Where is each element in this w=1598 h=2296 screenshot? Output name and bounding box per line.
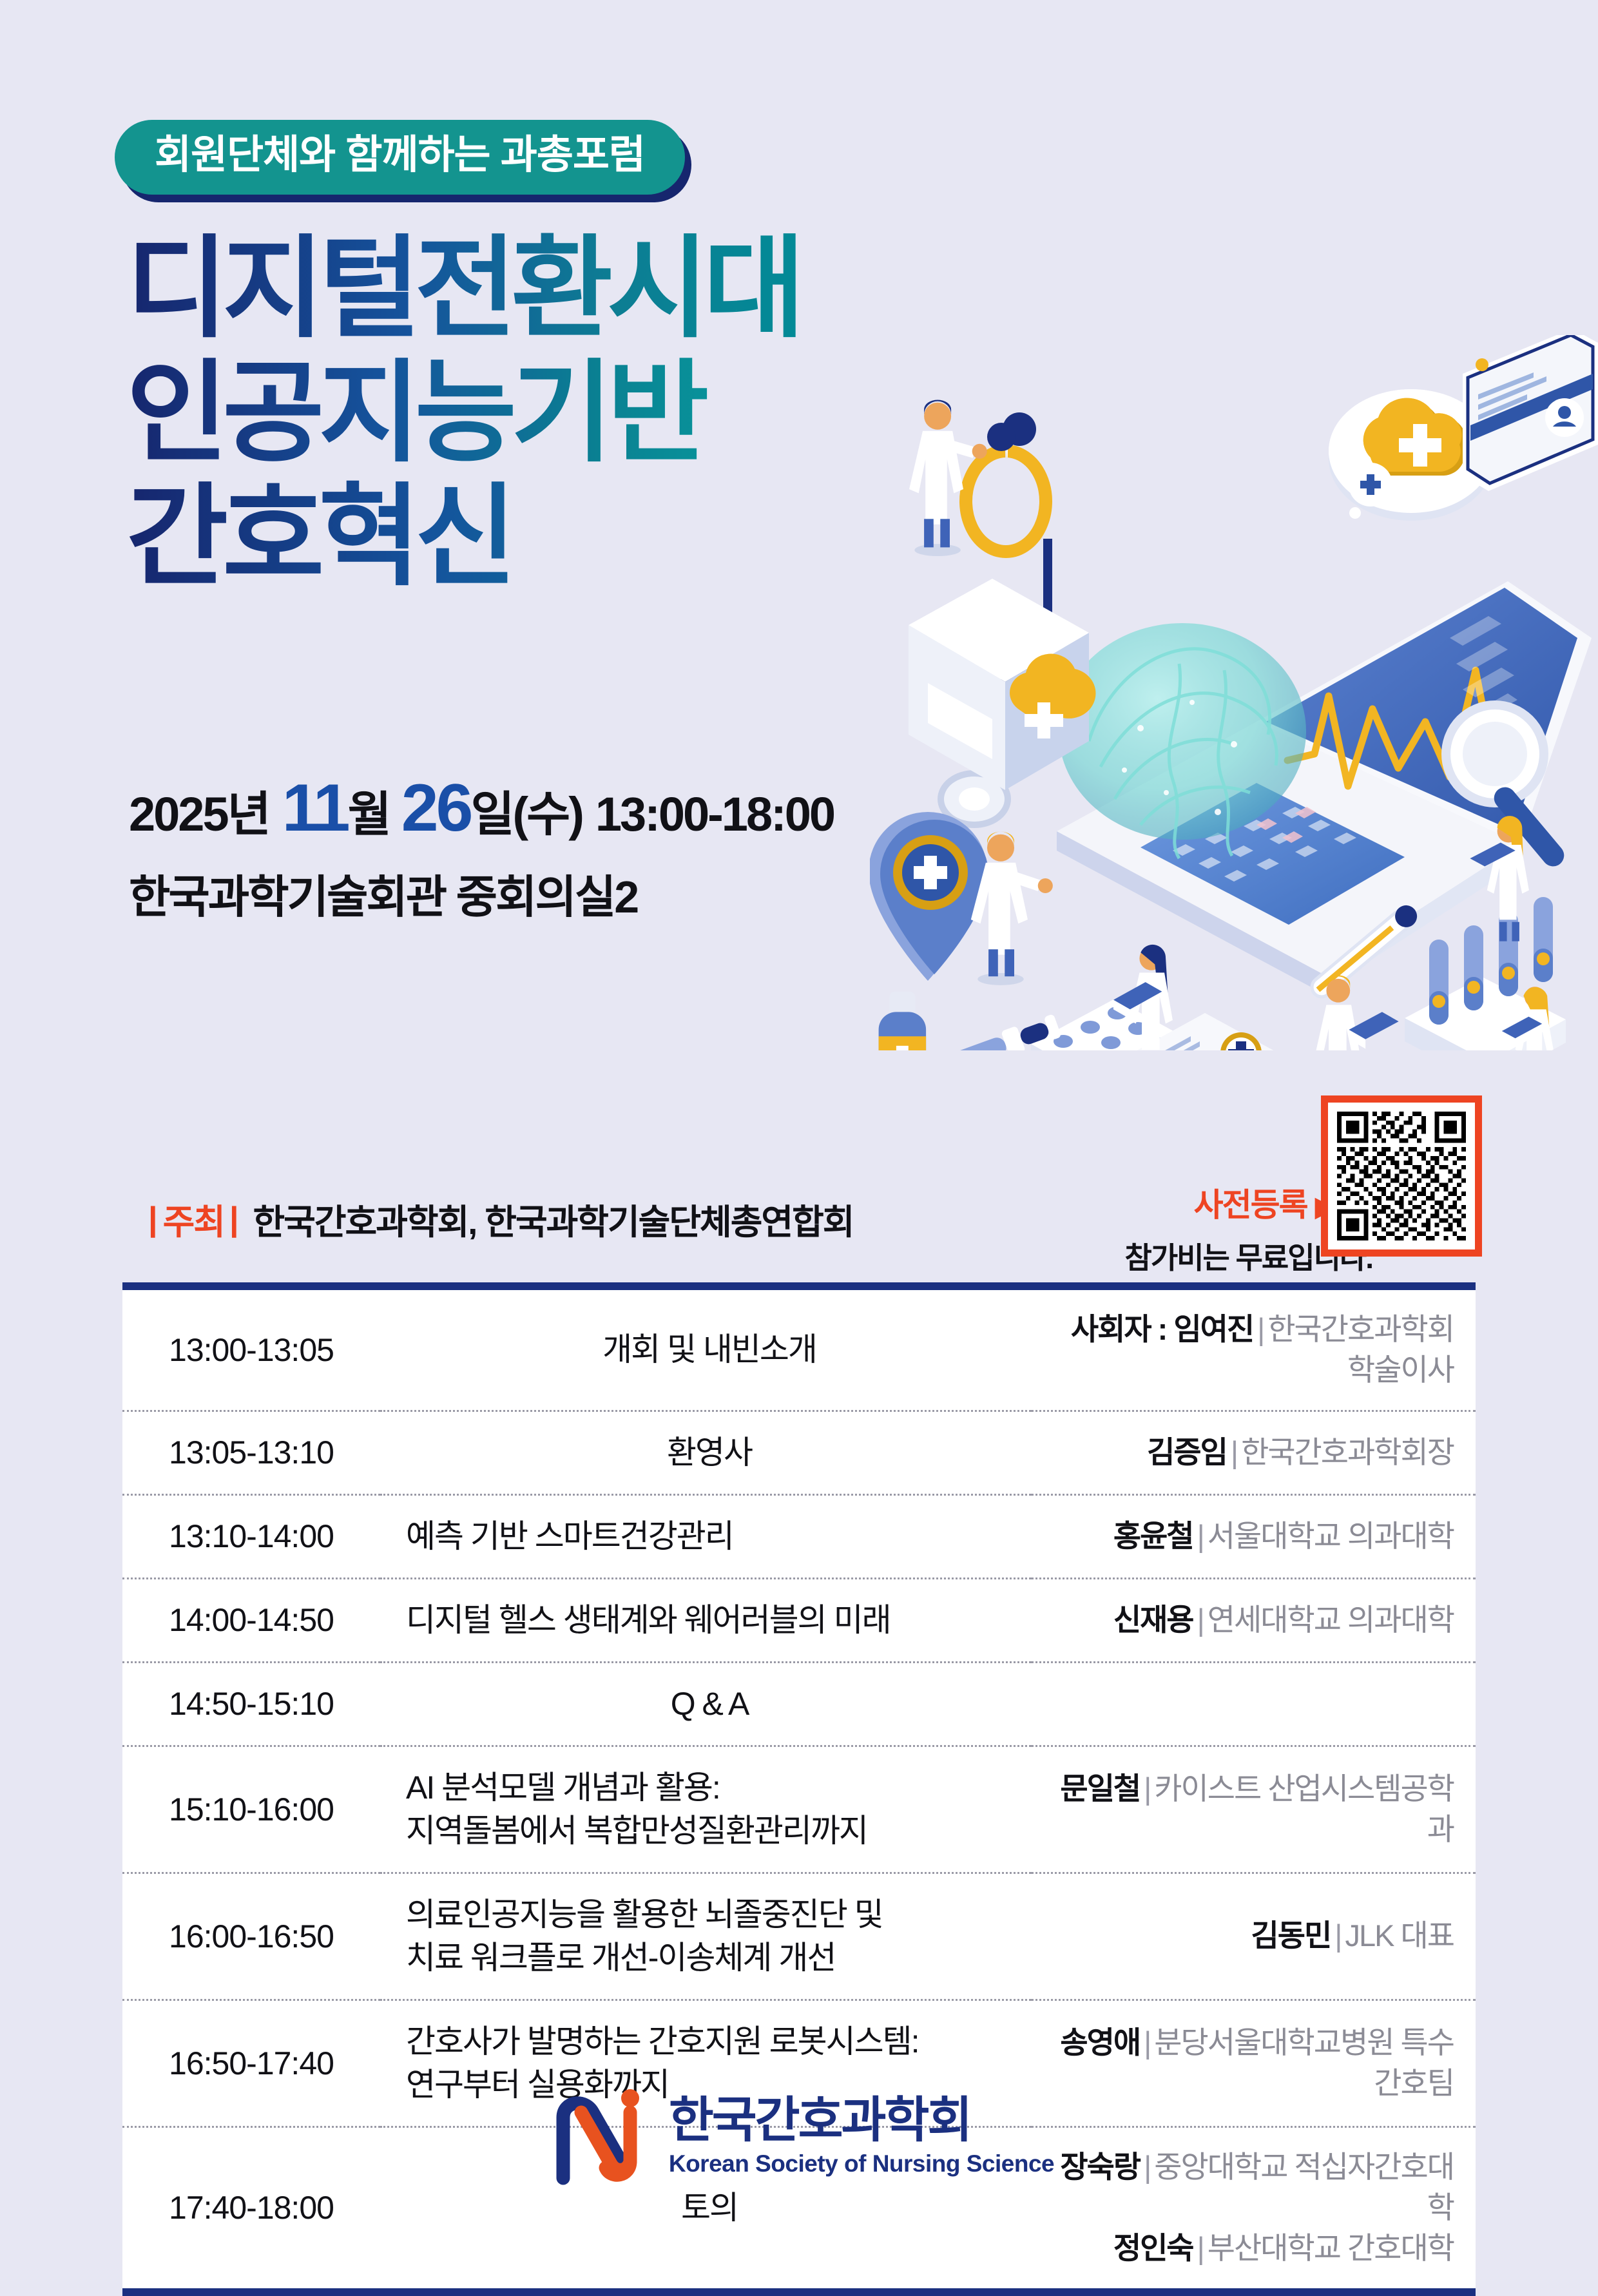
schedule-time-cell: 13:10-14:00 [122, 1494, 380, 1577]
speaker-affiliation: 한국간호과학회 학술이사 [1267, 1312, 1454, 1387]
schedule-speaker-cell: 김증임|한국간호과학회장 [1031, 1410, 1476, 1494]
schedule-title-cell: AI 분석모델 개념과 활용:지역돌봄에서 복합만성질환관리까지 [380, 1745, 1031, 1872]
schedule-title-cell: Q & A [380, 1661, 1031, 1745]
title-line-3: 간호혁신 [126, 475, 800, 599]
schedule-session-title: 의료인공지능을 활용한 뇌졸중진단 및치료 워크플로 개선-이송체계 개선 [406, 1893, 1013, 1980]
schedule-session-title: AI 분석모델 개념과 활용:지역돌봄에서 복합만성질환관리까지 [406, 1766, 1013, 1853]
speaker-name: 신재용 [1113, 1603, 1193, 1637]
schedule-speaker-list: 홍윤철|서울대학교 의과대학 [1044, 1516, 1454, 1557]
schedule-speaker-list: 김증임|한국간호과학회장 [1044, 1433, 1454, 1473]
schedule-time: 13:00-13:05 [169, 1331, 334, 1369]
schedule-title-cell: 디지털 헬스 생태계와 웨어러블의 미래 [380, 1577, 1031, 1661]
society-logo-text: 한국간호과학회 Korean Society of Nursing Scienc… [669, 2096, 1054, 2175]
schedule-session-title: 토의 [406, 2186, 1013, 2230]
organizer-line: | 주최 | 한국간호과학회, 한국과학기술단체총연합회 [143, 1193, 853, 1244]
organizer-bar-right: | [229, 1200, 239, 1239]
society-logo: 한국간호과학회 Korean Society of Nursing Scienc… [544, 2081, 1054, 2190]
event-year: 2025년 [129, 788, 269, 842]
schedule-title-cell: 예측 기반 스마트건강관리 [380, 1494, 1031, 1577]
schedule-session-title: 환영사 [406, 1431, 1013, 1474]
event-day-unit: 일(수) [470, 788, 582, 842]
schedule-time-cell: 16:00-16:50 [122, 1872, 380, 1999]
schedule-time-cell: 14:50-15:10 [122, 1661, 380, 1745]
schedule-title-cell: 개회 및 내빈소개 [380, 1290, 1031, 1410]
table-row: 13:05-13:10환영사김증임|한국간호과학회장 [122, 1410, 1476, 1494]
speaker-separator: | [1193, 2231, 1208, 2265]
page-title: 디지털전환시대 인공지능기반 간호혁신 [126, 227, 800, 599]
schedule-time: 16:50-17:40 [169, 2045, 334, 2082]
speaker-name: 홍윤철 [1113, 1519, 1193, 1553]
schedule-session-title: 예측 기반 스마트건강관리 [406, 1515, 1013, 1558]
speaker-affiliation: 부산대학교 간호대학 [1208, 2231, 1454, 2265]
schedule-speaker-list: 사회자 : 임여진|한국간호과학회 학술이사 [1044, 1309, 1454, 1391]
title-line-2: 인공지능기반 [126, 351, 800, 476]
schedule-time: 13:10-14:00 [169, 1518, 334, 1555]
speaker-separator: | [1193, 1603, 1208, 1637]
forum-badge-label: 회원단체와 함께하는 과총포럼 [155, 135, 645, 175]
schedule-time: 14:00-14:50 [169, 1601, 334, 1639]
society-name-ko: 한국간호과학회 [669, 2096, 1054, 2145]
event-venue: 한국과학기술회관 중회의실2 [129, 861, 834, 926]
speaker-name: 정인숙 [1113, 2231, 1193, 2265]
organizer-value: 한국간호과학회, 한국과학기술단체총연합회 [253, 1193, 854, 1244]
speaker-separator: | [1331, 1918, 1345, 1953]
title-line-1: 디지털전환시대 [126, 227, 800, 351]
schedule-speaker-cell [1031, 1661, 1476, 1745]
schedule-time-cell: 15:10-16:00 [122, 1745, 380, 1872]
schedule-speaker-cell: 홍윤철|서울대학교 의과대학 [1031, 1494, 1476, 1577]
schedule-time: 13:05-13:10 [169, 1434, 334, 1471]
organizer-label: 주최 [163, 1193, 224, 1244]
hero-section: 회원단체와 함께하는 과총포럼 디지털전환시대 인공지능기반 간호혁신 2025… [0, 0, 1598, 1005]
forum-badge: 회원단체와 함께하는 과총포럼 [115, 120, 685, 195]
event-date-line: 2025년 11 월 26 일(수) 13:00-18:00 [129, 771, 834, 845]
speaker-affiliation: JLK 대표 [1345, 1918, 1454, 1953]
schedule-speaker-cell: 문일철|카이스트 산업시스템공학과 [1031, 1745, 1476, 1872]
schedule-time: 14:50-15:10 [169, 1685, 334, 1722]
schedule-speaker-cell: 김동민|JLK 대표 [1031, 1872, 1476, 1999]
table-row: 13:00-13:05개회 및 내빈소개사회자 : 임여진|한국간호과학회 학술… [122, 1290, 1476, 1410]
event-day-number: 26 [401, 771, 471, 845]
schedule-time-cell: 13:00-13:05 [122, 1290, 380, 1410]
speaker-affiliation: 서울대학교 의과대학 [1208, 1519, 1454, 1553]
schedule-title-cell: 환영사 [380, 1410, 1031, 1494]
schedule-session-title: 디지털 헬스 생태계와 웨어러블의 미래 [406, 1599, 1013, 1642]
forum-badge-wrapper: 회원단체와 함께하는 과총포럼 [115, 120, 685, 195]
organizer-registration-row: | 주최 | 한국간호과학회, 한국과학기술단체총연합회 사전등록 ▶▶▶ 참가… [0, 1076, 1598, 1263]
speaker-separator: | [1193, 1519, 1208, 1553]
speaker-separator: | [1140, 2025, 1154, 2060]
speaker-affiliation: 한국간호과학회장 [1241, 1435, 1454, 1469]
speaker-separator: | [1140, 1771, 1154, 1806]
event-month-unit: 월 [348, 788, 390, 842]
speaker-affiliation: 카이스트 산업시스템공학과 [1154, 1771, 1454, 1846]
society-name-en: Korean Society of Nursing Science [669, 2152, 1054, 2175]
table-row: 15:10-16:00AI 분석모델 개념과 활용:지역돌봄에서 복합만성질환관… [122, 1745, 1476, 1872]
organizer-bar-left: | [148, 1200, 158, 1239]
pre-registration-text: 사전등록 [1194, 1187, 1307, 1223]
schedule-speaker-list: 김동민|JLK 대표 [1044, 1916, 1454, 1956]
speaker-name: 김동민 [1251, 1918, 1331, 1953]
event-datetime-block: 2025년 11 월 26 일(수) 13:00-18:00 한국과학기술회관 … [129, 771, 834, 926]
speaker-name: 문일철 [1060, 1771, 1140, 1806]
schedule-session-title: Q & A [406, 1683, 1013, 1726]
schedule-time: 17:40-18:00 [169, 2189, 334, 2226]
medical-tech-illustration [870, 335, 1598, 1050]
table-row: 13:10-14:00예측 기반 스마트건강관리홍윤철|서울대학교 의과대학 [122, 1494, 1476, 1577]
speaker-name: 송영애 [1060, 2025, 1140, 2060]
speaker-separator: | [1253, 1312, 1267, 1346]
event-month-number: 11 [282, 771, 348, 845]
schedule-speaker-list: 신재용|연세대학교 의과대학 [1044, 1600, 1454, 1641]
nursing-society-logo-icon [544, 2081, 652, 2190]
schedule-speaker-cell: 신재용|연세대학교 의과대학 [1031, 1577, 1476, 1661]
qr-code[interactable] [1321, 1095, 1482, 1257]
table-row: 14:00-14:50디지털 헬스 생태계와 웨어러블의 미래신재용|연세대학교… [122, 1577, 1476, 1661]
schedule-time-cell: 14:00-14:50 [122, 1577, 380, 1661]
speaker-name: 사회자 : 임여진 [1071, 1312, 1253, 1346]
schedule-session-title: 개회 및 내빈소개 [406, 1328, 1013, 1371]
speaker-name: 김증임 [1147, 1435, 1227, 1469]
schedule-time: 16:00-16:50 [169, 1918, 334, 1955]
schedule-speaker-list: 문일철|카이스트 산업시스템공학과 [1044, 1769, 1454, 1850]
schedule-time-cell: 13:05-13:10 [122, 1410, 380, 1494]
speaker-affiliation: 연세대학교 의과대학 [1208, 1603, 1454, 1637]
table-row: 14:50-15:10Q & A [122, 1661, 1476, 1745]
footer: 한국간호과학회 Korean Society of Nursing Scienc… [0, 2081, 1598, 2190]
event-time-range: 13:00-18:00 [595, 788, 834, 842]
schedule-speaker-cell: 사회자 : 임여진|한국간호과학회 학술이사 [1031, 1290, 1476, 1410]
speaker-separator: | [1227, 1435, 1241, 1469]
table-row: 16:00-16:50의료인공지능을 활용한 뇌졸중진단 및치료 워크플로 개선… [122, 1872, 1476, 1999]
schedule-time: 15:10-16:00 [169, 1791, 334, 1828]
schedule-title-cell: 의료인공지능을 활용한 뇌졸중진단 및치료 워크플로 개선-이송체계 개선 [380, 1872, 1031, 1999]
